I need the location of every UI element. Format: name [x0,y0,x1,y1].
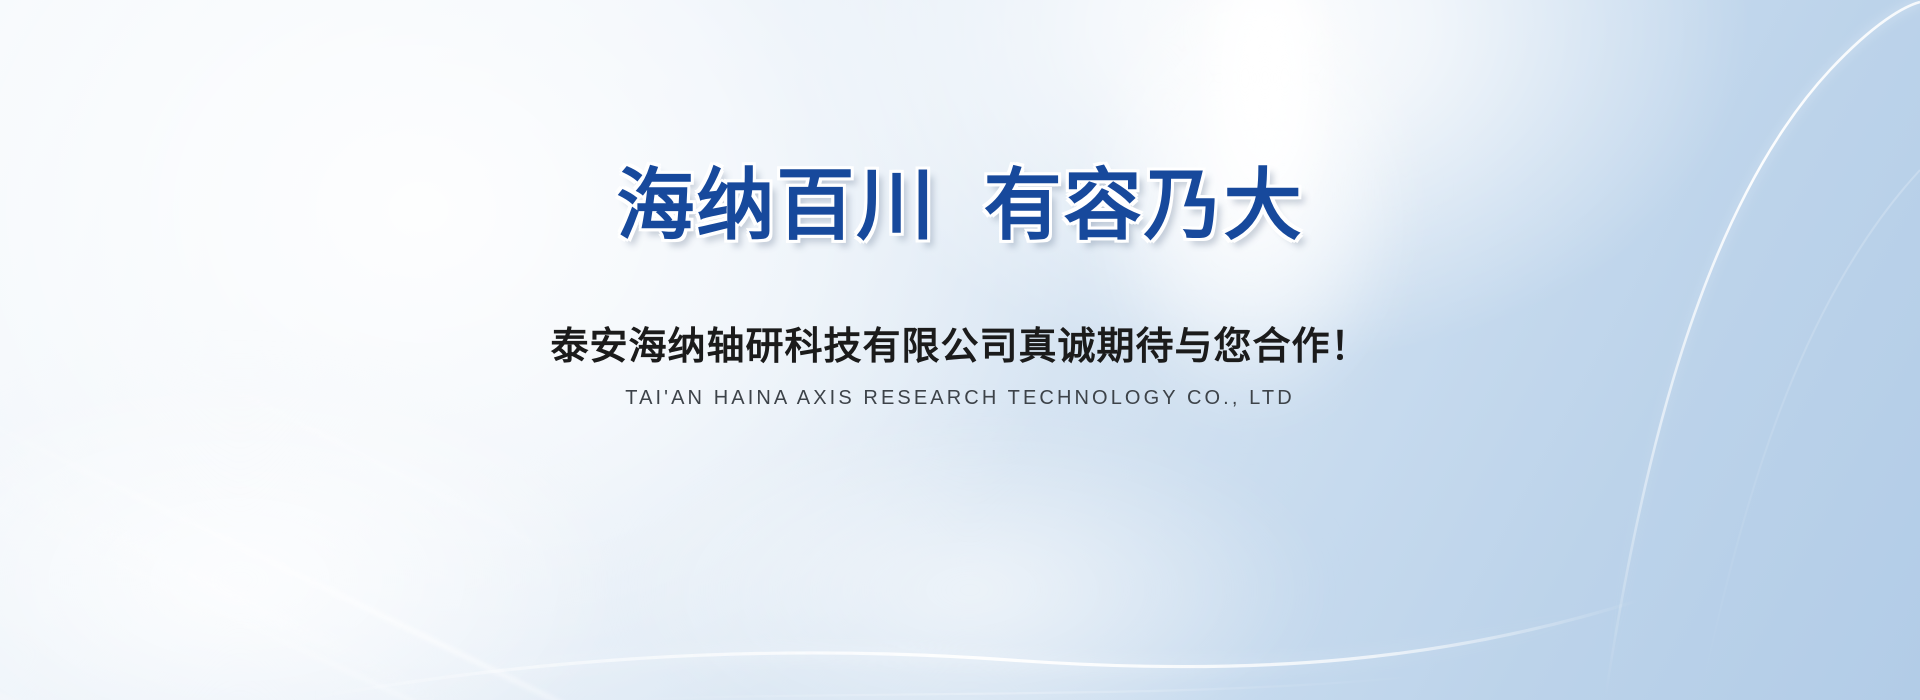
banner-headline: 海纳百川 有容乃大 [616,166,1303,244]
banner-subtitle-english: TAI'AN HAINA AXIS RESEARCH TECHNOLOGY CO… [625,388,1295,408]
hero-banner: 海纳百川 有容乃大 泰安海纳轴研科技有限公司真诚期待与您合作！ TAI'AN H… [0,0,1920,700]
banner-content: 海纳百川 有容乃大 泰安海纳轴研科技有限公司真诚期待与您合作！ TAI'AN H… [0,0,1920,700]
banner-subtitle-chinese: 泰安海纳轴研科技有限公司真诚期待与您合作！ [550,328,1369,366]
